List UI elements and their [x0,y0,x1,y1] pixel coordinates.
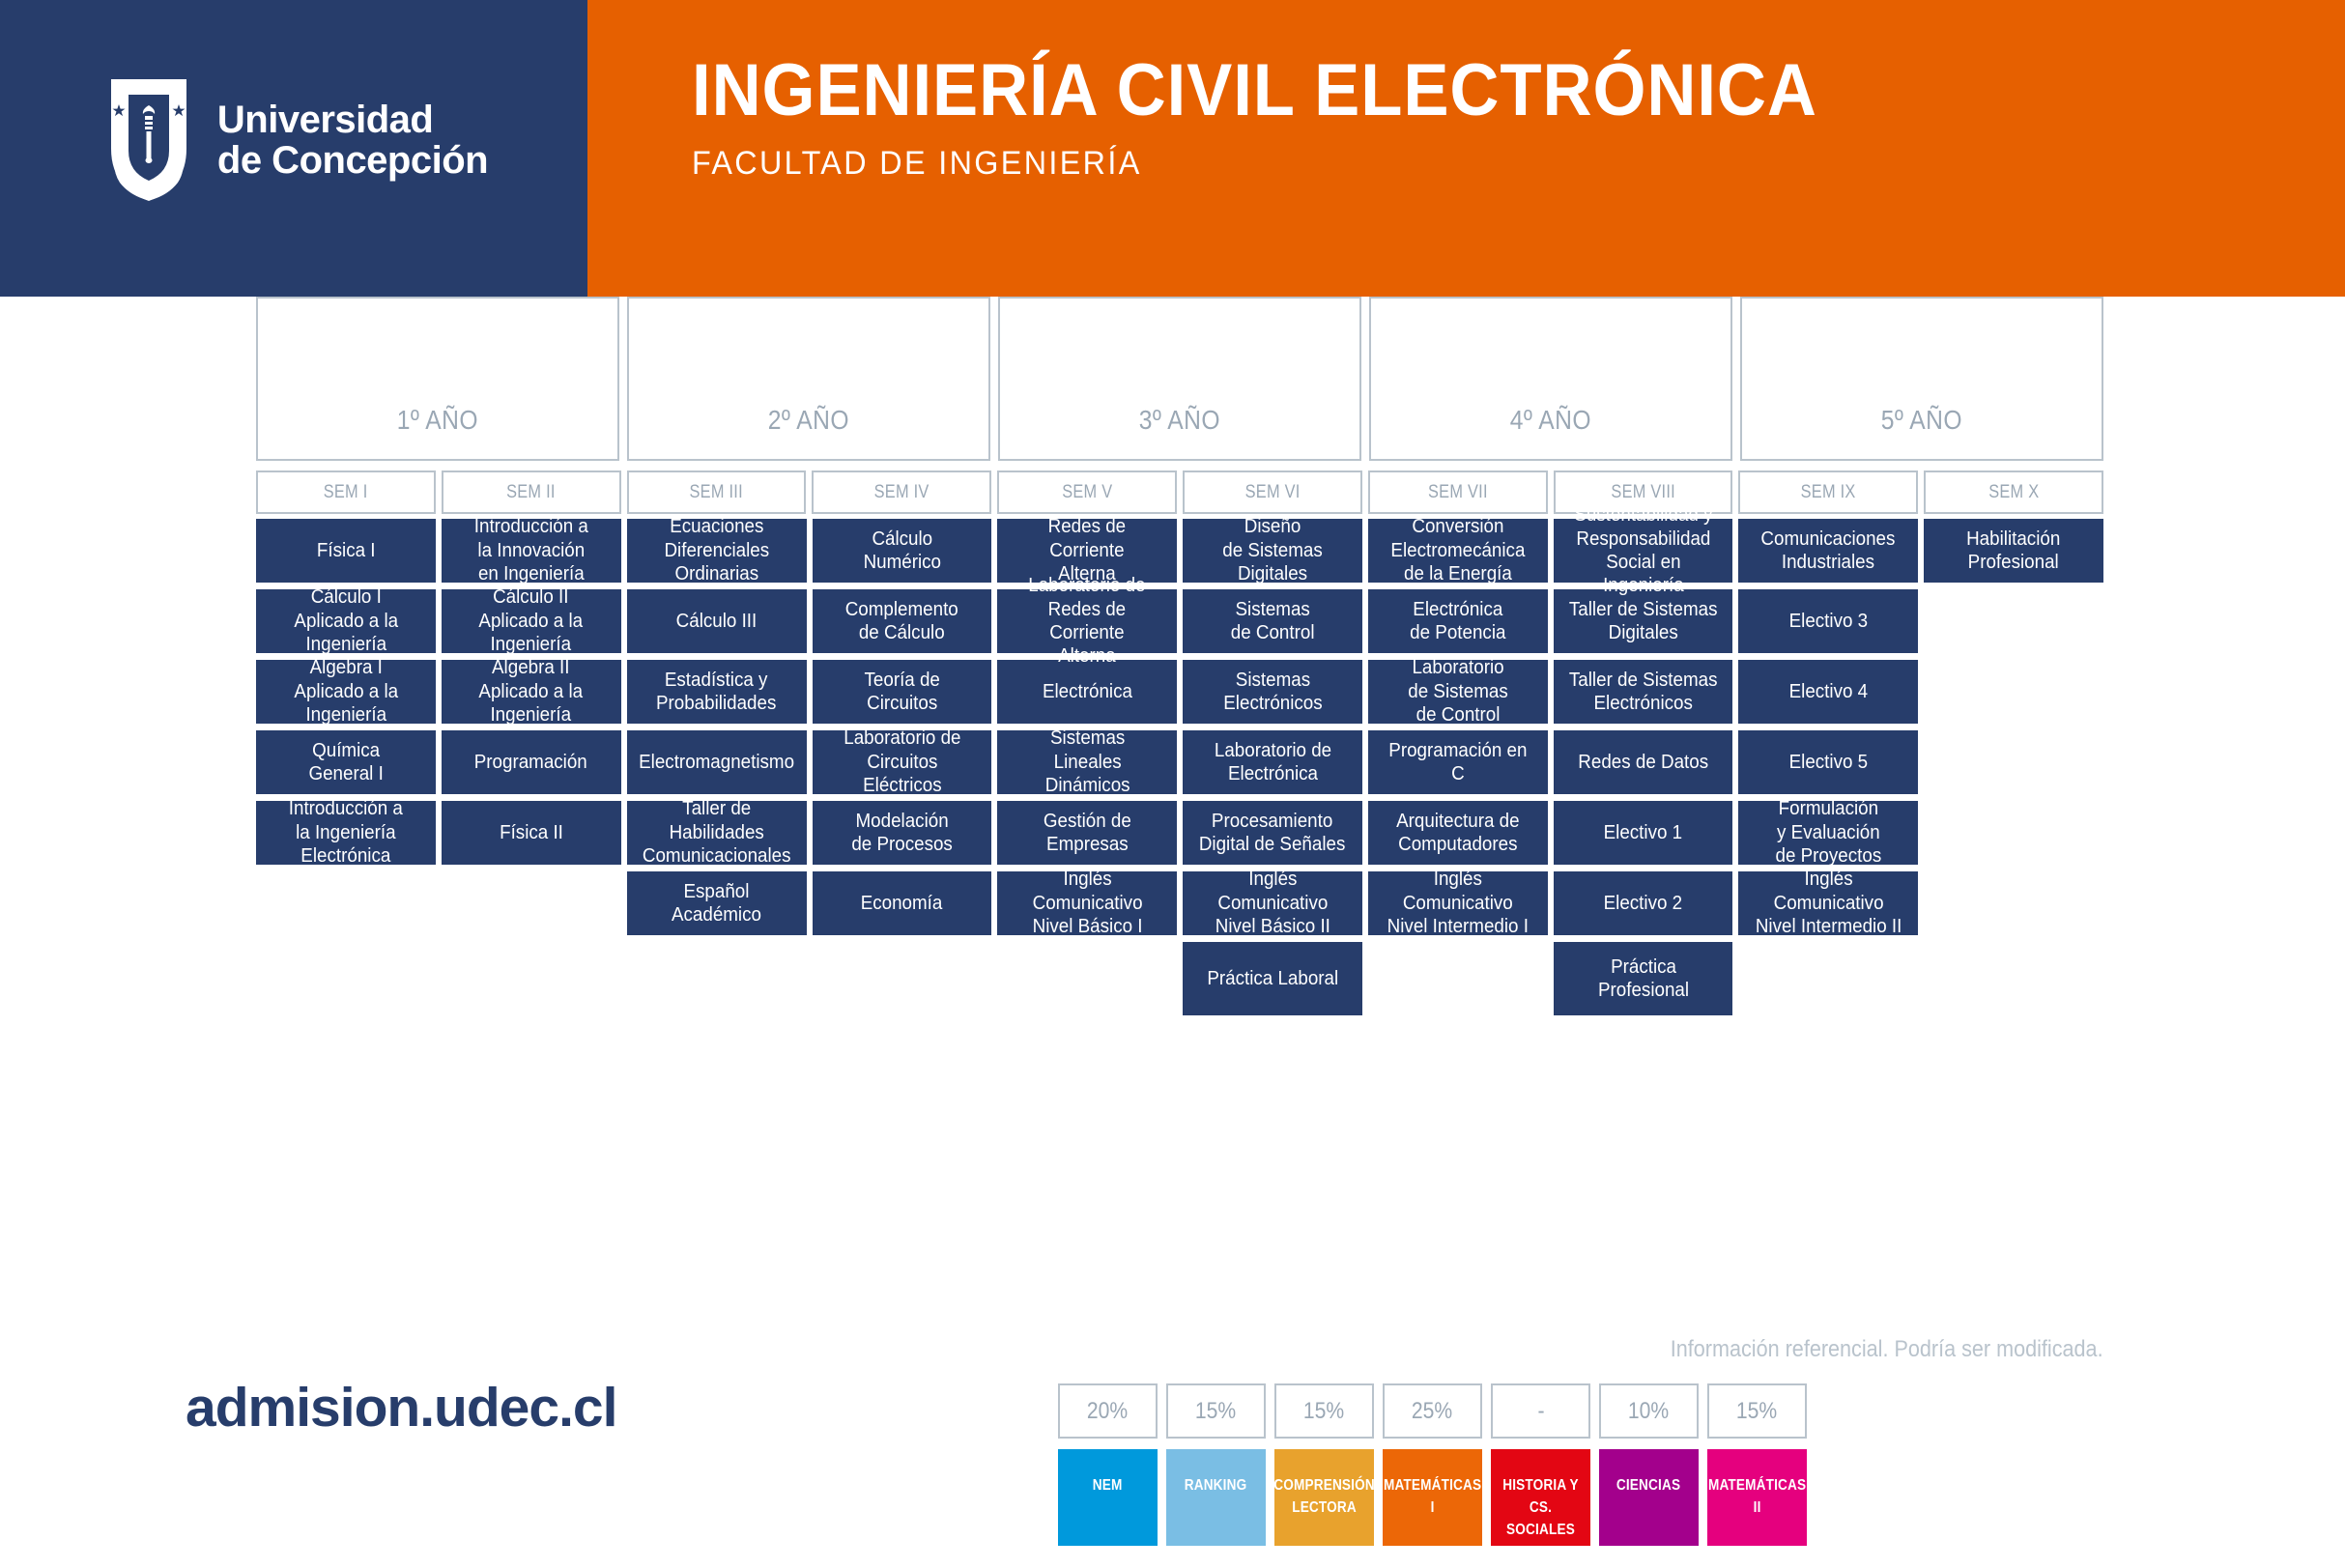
year-header-3: 3º AÑO [998,297,1361,461]
semester-header-label: SEM VIII [1611,482,1675,503]
course-label: Introducción ala IngenieríaElectrónica [289,797,403,868]
course-box[interactable]: Diseñode SistemasDigitales [1183,519,1362,583]
semester-header-2: SEM II [442,470,621,514]
semester-header-label: SEM V [1062,482,1112,503]
semester-header-label: SEM X [1988,482,2039,503]
weight-percentage: 15% [1274,1383,1374,1439]
weight-percentage-label: 10% [1628,1398,1669,1425]
year-header-row: 1º AÑO2º AÑO3º AÑO4º AÑO5º AÑO [256,297,2103,461]
weight-category-swatch: MATEMÁTICAS I [1383,1449,1482,1546]
course-box[interactable]: Electrónica [997,660,1177,724]
weight-percentage: 25% [1383,1383,1482,1439]
course-box[interactable]: InglésComunicativoNivel Básico I [997,871,1177,935]
course-label: Laboratorio deElectrónica [1214,739,1330,786]
course-label: ProcesamientoDigital de Señales [1199,810,1346,857]
semester-header-label: SEM III [690,482,743,503]
weight-category-swatch: COMPRENSIÓNLECTORA [1274,1449,1374,1546]
semester-header-6: SEM VI [1183,470,1362,514]
year-header-1: 1º AÑO [256,297,619,461]
course-label: Redes de Datos [1578,751,1708,774]
course-box[interactable]: ConversiónElectromecánicade la Energía [1368,519,1548,583]
course-label: ComunicacionesIndustriales [1761,527,1896,575]
semester-header-row: SEM ISEM IISEM IIISEM IVSEM VSEM VISEM V… [256,470,2103,514]
semester-column-3: EcuacionesDiferencialesOrdinariasCálculo… [627,519,807,1022]
weight-column-5: -HISTORIA YCS. SOCIALES [1491,1383,1590,1546]
course-label: InglésComunicativoNivel Intermedio I [1387,868,1529,938]
course-box[interactable]: Cálculo IAplicado a laIngeniería [256,589,436,653]
weight-column-7: 15%MATEMÁTICAS II [1707,1383,1807,1546]
course-label: Arquitectura deComputadores [1396,810,1520,857]
semester-header-3: SEM III [627,470,807,514]
course-label: QuímicaGeneral I [308,739,383,786]
course-label: Modelaciónde Procesos [851,810,953,857]
course-label: InglésComunicativoNivel Básico I [1032,868,1142,938]
course-label: SistemasLinealesDinámicos [1044,727,1130,797]
semester-column-10: HabilitaciónProfesional [1924,519,2103,1022]
course-label: EspañolAcadémico [672,880,761,927]
course-label: Electivo 4 [1789,680,1869,703]
course-box[interactable]: CálculoNumérico [813,519,992,583]
course-box[interactable]: Formulacióny Evaluaciónde Proyectos [1738,801,1918,865]
semester-header-label: SEM IV [874,482,929,503]
course-box[interactable]: QuímicaGeneral I [256,730,436,794]
semester-column-2: Introducción ala Innovaciónen Ingeniería… [442,519,621,1022]
course-label: Economía [861,892,943,915]
weight-category-label: NEM [1093,1474,1123,1497]
weight-percentage-label: 20% [1087,1398,1128,1425]
course-box[interactable]: Gestión deEmpresas [997,801,1177,865]
course-label: Álgebra IIAplicado a laIngeniería [479,656,584,727]
course-box[interactable]: Redes de CorrienteAlterna [997,519,1177,583]
course-label: CálculoNumérico [863,527,940,575]
year-header-label: 3º AÑO [1139,405,1220,436]
weight-percentage: - [1491,1383,1590,1439]
course-box[interactable]: Redes de Datos [1554,730,1733,794]
course-box[interactable]: Física II [442,801,621,865]
course-box[interactable]: Electivo 2 [1554,871,1733,935]
course-label: Electivo 1 [1604,821,1683,844]
course-label: Álgebra IAplicado a laIngeniería [294,656,398,727]
course-label: Gestión deEmpresas [1044,810,1131,857]
course-label: Física II [500,821,563,844]
course-box[interactable]: Complementode Cálculo [813,589,992,653]
semester-column-7: ConversiónElectromecánicade la EnergíaEl… [1368,519,1548,1022]
course-label: Electivo 5 [1789,751,1869,774]
weight-column-2: 15%RANKING [1166,1383,1266,1546]
course-label: Física I [317,539,376,562]
university-name: Universidad de Concepción [217,100,488,181]
disclaimer-text: Información referencial. Podría ser modi… [1671,1336,2103,1363]
weight-percentage: 15% [1707,1383,1807,1439]
course-label: Sustentabilidad yResponsabilidadSocial e… [1566,503,1721,598]
semester-column-5: Redes de CorrienteAlternaLaboratorio deR… [997,519,1177,1022]
weight-column-1: 20%NEM [1058,1383,1158,1546]
course-label: Electivo 3 [1789,610,1869,633]
course-box[interactable]: ProcesamientoDigital de Señales [1183,801,1362,865]
course-label: InglésComunicativoNivel Intermedio II [1756,868,1902,938]
university-name-line2: de Concepción [217,141,488,182]
course-box[interactable]: InglésComunicativoNivel Intermedio I [1368,871,1548,935]
weight-percentage-label: 15% [1195,1398,1236,1425]
course-label: Taller de SistemasElectrónicos [1569,669,1718,716]
weight-category-label: MATEMÁTICAS I [1384,1474,1481,1519]
course-label: Laboratorio deRedes de CorrienteAlterna [1010,574,1164,669]
course-label: ConversiónElectromecánicade la Energía [1390,515,1525,585]
weight-category-swatch: MATEMÁTICAS II [1707,1449,1807,1546]
course-box[interactable]: Programación en C [1368,730,1548,794]
weight-category-swatch: CIENCIAS [1599,1449,1699,1546]
course-box[interactable]: SistemasElectrónicos [1183,660,1362,724]
weight-category-label: MATEMÁTICAS II [1708,1474,1806,1519]
faculty-subtitle: FACULTAD DE INGENIERÍA [692,145,1842,183]
course-label: Sistemasde Control [1231,598,1315,645]
course-box[interactable]: Laboratorio deCircuitos Eléctricos [813,730,992,794]
course-label: Formulacióny Evaluaciónde Proyectos [1775,797,1881,868]
course-label: PrácticaProfesional [1598,955,1689,1003]
weight-category-label: COMPRENSIÓNLECTORA [1273,1474,1375,1519]
year-header-5: 5º AÑO [1740,297,2103,461]
course-label: SistemasElectrónicos [1223,669,1322,716]
program-title: INGENIERÍA CIVIL ELECTRÓNICA [692,54,1817,128]
year-header-label: 2º AÑO [768,405,849,436]
course-box[interactable]: Economía [813,871,992,935]
course-label: Práctica Laboral [1207,967,1338,990]
course-box[interactable]: HabilitaciónProfesional [1924,519,2103,583]
year-header-4: 4º AÑO [1369,297,1732,461]
semester-header-7: SEM VII [1368,470,1548,514]
course-label: Programación en C [1381,739,1535,786]
course-box[interactable]: Introducción ala IngenieríaElectrónica [256,801,436,865]
semester-column-9: ComunicacionesIndustrialesElectivo 3Elec… [1738,519,1918,1022]
semester-header-label: SEM VII [1428,482,1488,503]
udec-shield-crest-icon [100,79,198,203]
weight-column-6: 10%CIENCIAS [1599,1383,1699,1546]
semester-header-label: SEM VI [1244,482,1300,503]
course-label: Programación [474,751,587,774]
course-label: Teoría deCircuitos [864,669,939,716]
course-label: Cálculo IAplicado a laIngeniería [294,585,398,656]
weight-percentage-label: 15% [1303,1398,1344,1425]
course-label: EcuacionesDiferencialesOrdinarias [664,515,769,585]
course-label: Electivo 2 [1604,892,1683,915]
course-box[interactable]: Física I [256,519,436,583]
semester-column-1: Física ICálculo IAplicado a laIngeniería… [256,519,436,1022]
course-box[interactable]: EcuacionesDiferencialesOrdinarias [627,519,807,583]
page-header: Universidad de Concepción INGENIERÍA CIV… [0,0,2345,297]
weight-category-label: RANKING [1185,1474,1247,1497]
course-label: Taller deHabilidadesComunicacionales [643,797,791,868]
course-box[interactable]: Electrónicade Potencia [1368,589,1548,653]
course-label: Cálculo IIAplicado a laIngeniería [479,585,584,656]
course-label: Laboratorio deCircuitos Eléctricos [825,727,980,797]
weight-percentage-label: 25% [1412,1398,1452,1425]
semester-header-5: SEM V [997,470,1177,514]
year-header-2: 2º AÑO [627,297,990,461]
admision-url[interactable]: admision.udec.cl [186,1376,616,1440]
university-logo-block: Universidad de Concepción [0,0,587,297]
semester-header-1: SEM I [256,470,436,514]
course-box[interactable]: Modelaciónde Procesos [813,801,992,865]
course-label: Introducción ala Innovaciónen Ingeniería [474,515,588,585]
course-box[interactable]: SistemasLinealesDinámicos [997,730,1177,794]
course-box[interactable]: Álgebra IAplicado a laIngeniería [256,660,436,724]
course-box[interactable]: Taller deHabilidadesComunicacionales [627,801,807,865]
course-box[interactable]: Sustentabilidad yResponsabilidadSocial e… [1554,519,1733,583]
weight-category-swatch: NEM [1058,1449,1158,1546]
admission-weights-table: 20%NEM15%RANKING15%COMPRENSIÓNLECTORA25%… [1058,1383,1807,1546]
course-box[interactable]: Teoría deCircuitos [813,660,992,724]
weight-percentage: 10% [1599,1383,1699,1439]
course-box[interactable]: Introducción ala Innovaciónen Ingeniería [442,519,621,583]
course-box[interactable]: Taller de SistemasDigitales [1554,589,1733,653]
weight-category-swatch: HISTORIA YCS. SOCIALES [1491,1449,1590,1546]
course-box[interactable]: Cálculo III [627,589,807,653]
year-header-label: 1º AÑO [397,405,478,436]
course-box[interactable]: Estadística yProbabilidades [627,660,807,724]
semester-header-label: SEM II [506,482,556,503]
course-box[interactable]: PrácticaProfesional [1554,942,1733,1015]
course-label: InglésComunicativoNivel Básico II [1215,868,1330,938]
semester-header-label: SEM I [324,482,368,503]
course-box[interactable]: Sistemasde Control [1183,589,1362,653]
course-label: Complementode Cálculo [845,598,958,645]
course-box[interactable]: Electivo 1 [1554,801,1733,865]
course-box[interactable]: InglésComunicativoNivel Intermedio II [1738,871,1918,935]
weight-percentage: 20% [1058,1383,1158,1439]
weight-column-3: 15%COMPRENSIÓNLECTORA [1274,1383,1374,1546]
course-box[interactable]: Electivo 5 [1738,730,1918,794]
course-label: Electromagnetismo [639,751,794,774]
semester-header-9: SEM IX [1738,470,1918,514]
university-name-line1: Universidad [217,100,488,141]
weight-category-swatch: RANKING [1166,1449,1266,1546]
course-box[interactable]: Laboratoriode Sistemasde Control [1368,660,1548,724]
semester-column-6: Diseñode SistemasDigitalesSistemasde Con… [1183,519,1362,1022]
course-label: Laboratoriode Sistemasde Control [1408,656,1507,727]
weight-category-label: CIENCIAS [1616,1474,1680,1497]
weight-percentage-label: - [1537,1398,1544,1425]
course-box[interactable]: Programación [442,730,621,794]
course-box[interactable]: InglésComunicativoNivel Básico II [1183,871,1362,935]
year-header-label: 4º AÑO [1510,405,1591,436]
course-box[interactable]: Electromagnetismo [627,730,807,794]
course-box[interactable]: Laboratorio deRedes de CorrienteAlterna [997,589,1177,653]
course-label: Cálculo III [676,610,758,633]
course-box[interactable]: Cálculo IIAplicado a laIngeniería [442,589,621,653]
course-label: Diseñode SistemasDigitales [1222,515,1322,585]
course-label: Estadística yProbabilidades [656,669,776,716]
course-box[interactable]: Electivo 4 [1738,660,1918,724]
course-box[interactable]: Laboratorio deElectrónica [1183,730,1362,794]
weight-column-4: 25%MATEMÁTICAS I [1383,1383,1482,1546]
course-label: Electrónicade Potencia [1410,598,1505,645]
weight-percentage-label: 15% [1736,1398,1777,1425]
course-box[interactable]: ComunicacionesIndustriales [1738,519,1918,583]
course-box[interactable]: Álgebra IIAplicado a laIngeniería [442,660,621,724]
course-label: HabilitaciónProfesional [1967,527,2061,575]
course-label: Taller de SistemasDigitales [1569,598,1718,645]
course-box[interactable]: Práctica Laboral [1183,942,1362,1015]
semester-column-4: CálculoNuméricoComplementode CálculoTeor… [813,519,992,1022]
semester-header-4: SEM IV [812,470,991,514]
weight-percentage: 15% [1166,1383,1266,1439]
course-label: Electrónica [1043,680,1132,703]
course-box[interactable]: Taller de SistemasElectrónicos [1554,660,1733,724]
course-box[interactable]: Electivo 3 [1738,589,1918,653]
semester-column-8: Sustentabilidad yResponsabilidadSocial e… [1554,519,1733,1022]
semester-header-label: SEM IX [1801,482,1856,503]
course-box[interactable]: Arquitectura deComputadores [1368,801,1548,865]
semester-header-10: SEM X [1924,470,2103,514]
curriculum-grid: Física ICálculo IAplicado a laIngeniería… [256,519,2103,1022]
course-box[interactable]: EspañolAcadémico [627,871,807,935]
year-header-label: 5º AÑO [1881,405,1962,436]
weight-category-label: HISTORIA YCS. SOCIALES [1499,1474,1584,1542]
